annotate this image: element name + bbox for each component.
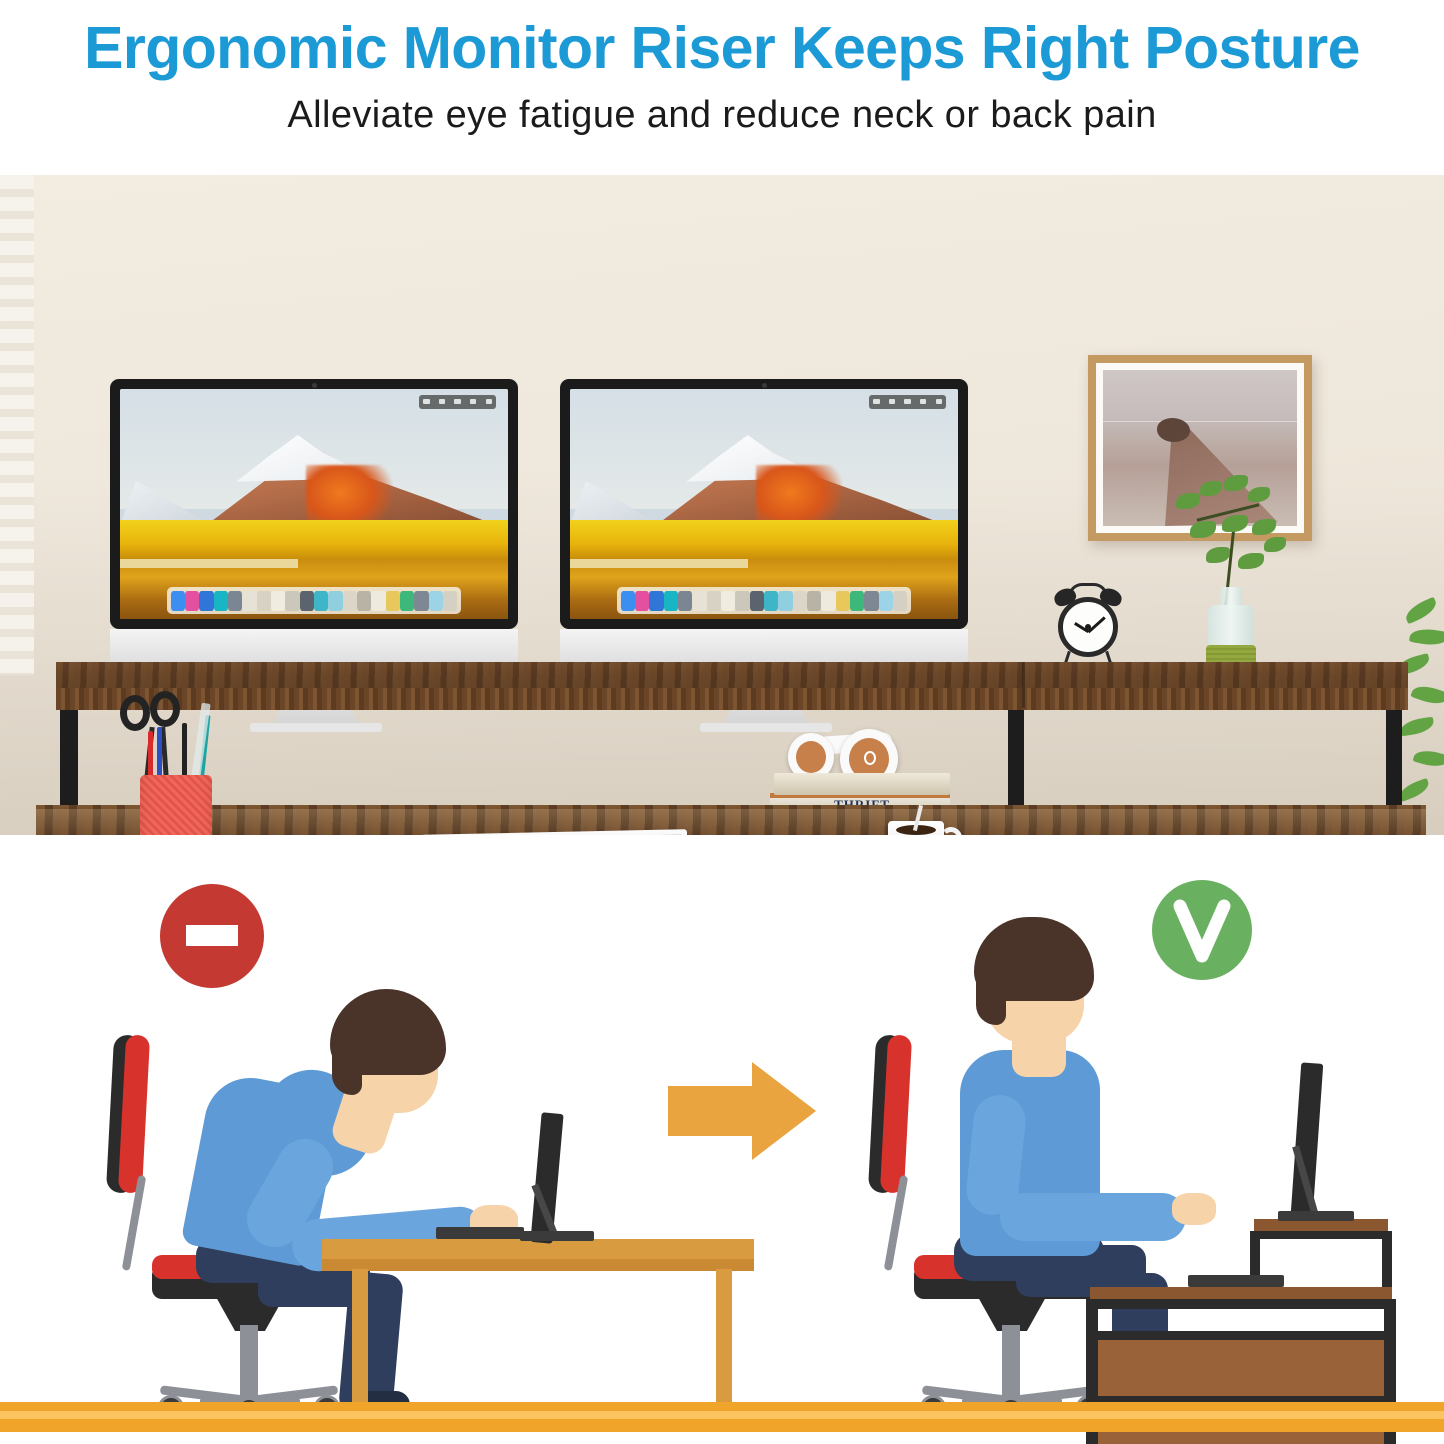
- cabinet-drawer-top: [1098, 1340, 1384, 1396]
- riser-shelf-edge: [56, 688, 1408, 710]
- menubar: [419, 395, 497, 409]
- cabinet-rail-1: [1098, 1331, 1384, 1340]
- riser-shelf-illus-frame: [1250, 1231, 1392, 1239]
- chair-gas-cylinder: [240, 1325, 258, 1397]
- product-infographic-page: Ergonomic Monitor Riser Keeps Right Post…: [0, 0, 1444, 1444]
- art-mat: [1096, 363, 1304, 533]
- plain-desk-leg-left: [352, 1269, 368, 1421]
- curtain: [0, 175, 34, 675]
- riser-shelf-grain: [56, 662, 1408, 690]
- alarm-clock: [1052, 581, 1124, 659]
- raised-monitor-base: [1278, 1211, 1354, 1221]
- headphone-cup-left-pad: [796, 741, 826, 773]
- monitor-right-screen: [570, 389, 958, 619]
- pen-black: [182, 723, 187, 783]
- scissors-ring-b: [150, 691, 180, 727]
- scissors-ring-a: [120, 695, 150, 731]
- person2-forearm: [1000, 1193, 1186, 1241]
- dock: [167, 587, 462, 615]
- chair2-gas-cylinder: [1002, 1325, 1020, 1397]
- page-title: Ergonomic Monitor Riser Keeps Right Post…: [84, 18, 1360, 80]
- person2-hand: [1172, 1193, 1216, 1225]
- monitor-left-screen: [120, 389, 508, 619]
- transition-arrow-icon: [668, 1062, 816, 1160]
- check-badge-tick-icon: [1152, 880, 1252, 980]
- monitor-camera-icon: [312, 383, 317, 388]
- low-monitor-base: [520, 1231, 594, 1241]
- monitor-right-bezel: [560, 379, 968, 629]
- clock-face: [1058, 597, 1118, 657]
- lifestyle-photo: THRIFT: [0, 175, 1444, 835]
- cabinet-keyboard: [1188, 1275, 1284, 1287]
- headphone-logo: [864, 751, 876, 765]
- monitor-camera-icon: [762, 383, 767, 388]
- plain-desk-apron: [322, 1259, 754, 1271]
- framed-wall-art: [1088, 355, 1312, 541]
- art-horizon: [1103, 421, 1297, 422]
- dock: [617, 587, 912, 615]
- page-subtitle: Alleviate eye fatigue and reduce neck or…: [287, 94, 1156, 137]
- person2-hair-sideburn: [976, 953, 1006, 1025]
- art-image: [1103, 370, 1297, 526]
- person-hair-sideburn: [332, 1025, 362, 1095]
- menubar: [869, 395, 947, 409]
- header-block: Ergonomic Monitor Riser Keeps Right Post…: [0, 0, 1444, 175]
- monitor-left-foot: [250, 723, 382, 732]
- riser-shelf-seam: [1022, 662, 1025, 708]
- monitor-left-bezel: [110, 379, 518, 629]
- plain-desk-leg-right: [716, 1269, 732, 1421]
- floor-bar-highlight: [0, 1411, 1444, 1419]
- monitor-right-foot: [700, 723, 832, 732]
- prohibited-badge-bar: [186, 925, 238, 946]
- book-top: [774, 773, 950, 795]
- clock-center-pin: [1085, 624, 1091, 630]
- low-desk-keyboard: [436, 1227, 524, 1239]
- pen-holder: [140, 775, 212, 835]
- posture-comparison-illustration: [0, 835, 1444, 1444]
- desk-illus-frame-top: [1086, 1299, 1396, 1309]
- art-rock: [1157, 418, 1190, 441]
